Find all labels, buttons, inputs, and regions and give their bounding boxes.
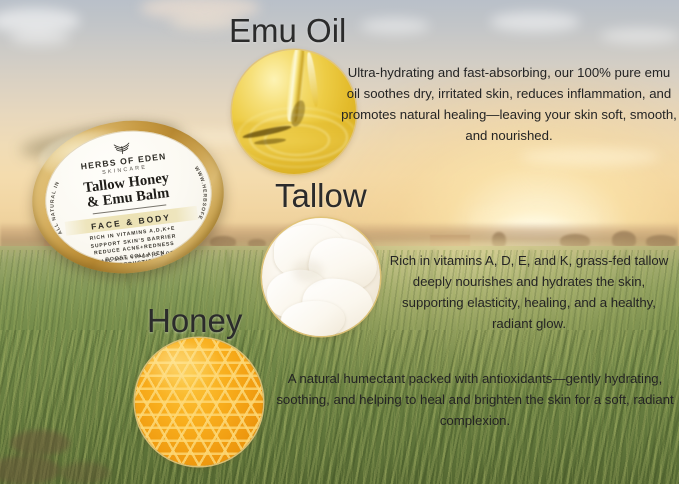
tallow-shadow [293, 260, 324, 281]
cloud [520, 148, 660, 166]
honey-gloss [143, 343, 222, 394]
oil-stream [305, 52, 320, 107]
dirt-patch [60, 462, 110, 484]
section-body-tallow: Rich in vitamins A, D, E, and K, grass-f… [381, 250, 677, 334]
product-infographic: Emu Oil Ultra-hydrating and fast-absorbi… [0, 0, 679, 484]
wheat-sprig-icon [109, 141, 134, 156]
dirt-patch [0, 455, 60, 484]
section-heading-honey: Honey [147, 302, 242, 340]
cloud [600, 28, 679, 44]
section-heading-emu-oil: Emu Oil [229, 12, 346, 50]
cloud [360, 18, 430, 34]
cloud [490, 12, 580, 32]
product-tin[interactable]: ALL NATURAL INGREDIENTS WWW.HERBSOFEDEN.… [23, 110, 232, 284]
section-body-emu-oil: Ultra-hydrating and fast-absorbing, our … [340, 62, 678, 146]
emu-oil-image [232, 50, 356, 174]
dirt-patch [10, 430, 70, 456]
section-body-honey: A natural humectant packed with antioxid… [272, 368, 678, 431]
cloud [10, 30, 70, 46]
section-heading-tallow: Tallow [275, 177, 367, 215]
honey-image [135, 338, 263, 466]
tallow-image [262, 218, 380, 336]
